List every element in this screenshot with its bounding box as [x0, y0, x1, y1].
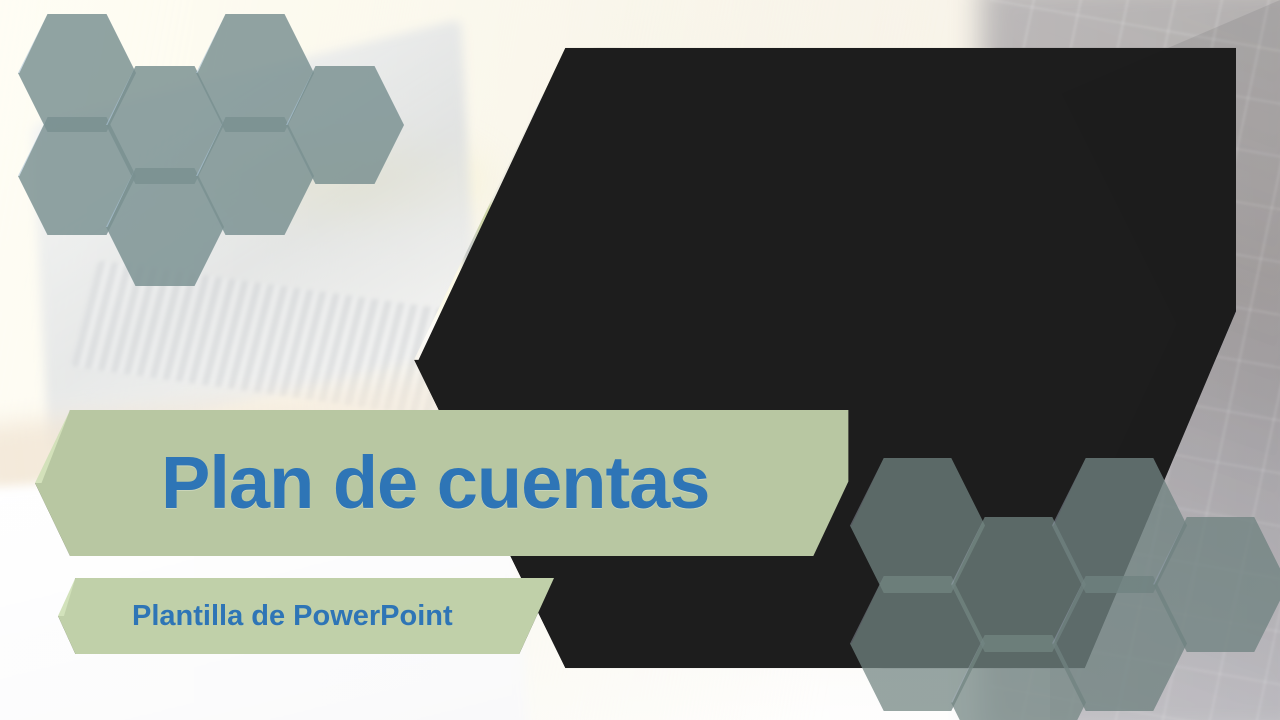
subtitle-banner: Plantilla de PowerPoint [58, 578, 554, 654]
hexagon-photo-frame [414, 46, 1236, 670]
presentation-slide: Plan de cuentas Plantilla de PowerPoint [0, 0, 1280, 720]
hexagon-photo-border [414, 46, 1236, 670]
page-title: Plan de cuentas [35, 410, 850, 556]
title-banner: Plan de cuentas [35, 410, 850, 556]
page-subtitle: Plantilla de PowerPoint [58, 578, 554, 654]
